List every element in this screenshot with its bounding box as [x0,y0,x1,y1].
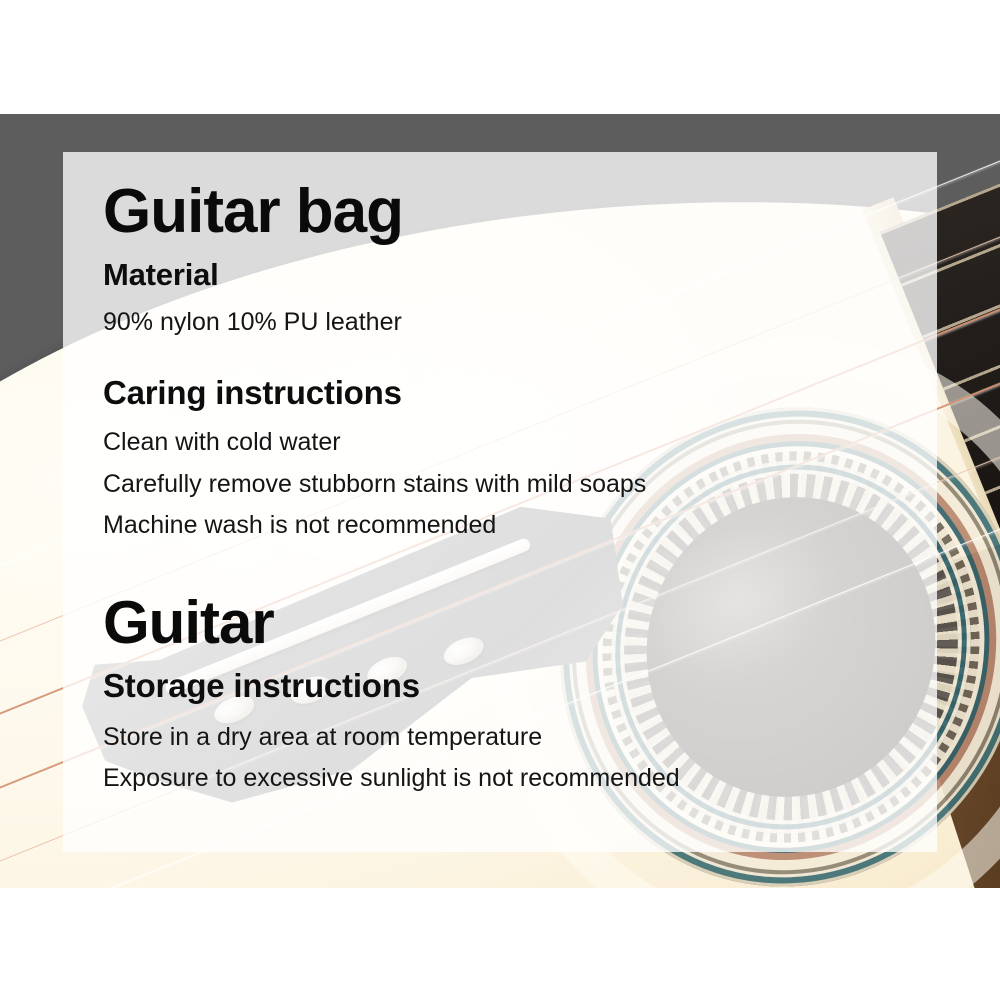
caring-line: Clean with cold water [103,425,897,461]
product-info-graphic: Guitar bag Material 90% nylon 10% PU lea… [0,0,1000,1000]
storage-line: Store in a dry area at room temperature [103,720,897,756]
section-guitar: Guitar Storage instructions Store in a d… [103,592,897,797]
group-caring-instructions: Caring instructions Clean with cold wate… [103,374,897,543]
section-guitar-bag: Guitar bag Material 90% nylon 10% PU lea… [103,180,897,544]
heading-material: Material [103,257,897,294]
info-card-content: Guitar bag Material 90% nylon 10% PU lea… [63,152,937,852]
storage-instruction-list: Store in a dry area at room temperature … [103,720,897,797]
heading-caring-instructions: Caring instructions [103,374,897,413]
material-line: 90% nylon 10% PU leather [103,305,897,341]
section-title-guitar-bag: Guitar bag [103,180,897,243]
caring-instruction-list: Clean with cold water Carefully remove s… [103,425,897,544]
group-material: Material 90% nylon 10% PU leather [103,257,897,340]
caring-line: Carefully remove stubborn stains with mi… [103,467,897,503]
heading-storage-instructions: Storage instructions [103,667,897,706]
caring-line: Machine wash is not recommended [103,508,897,544]
storage-line: Exposure to excessive sunlight is not re… [103,761,897,797]
section-title-guitar: Guitar [103,592,897,653]
